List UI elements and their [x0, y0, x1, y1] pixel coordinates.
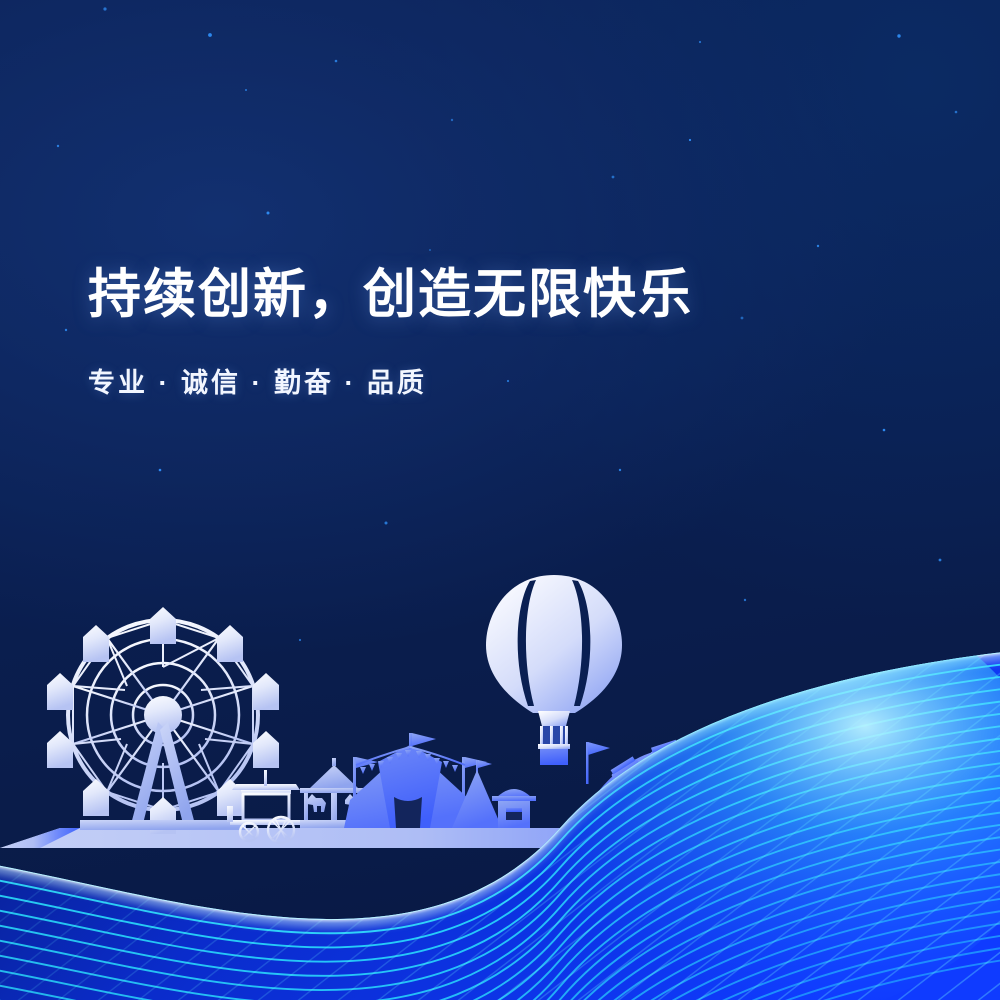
subline: 专业 · 诚信 · 勤奋 · 品质 — [88, 361, 693, 400]
banner-canvas: 持续创新，创造无限快乐 专业 · 诚信 · 勤奋 · 品质 — [0, 0, 1000, 1000]
neon-mesh-wave — [0, 0, 1000, 1000]
text-block: 持续创新，创造无限快乐 专业 · 诚信 · 勤奋 · 品质 — [88, 264, 693, 400]
headline: 持续创新，创造无限快乐 — [88, 264, 693, 327]
